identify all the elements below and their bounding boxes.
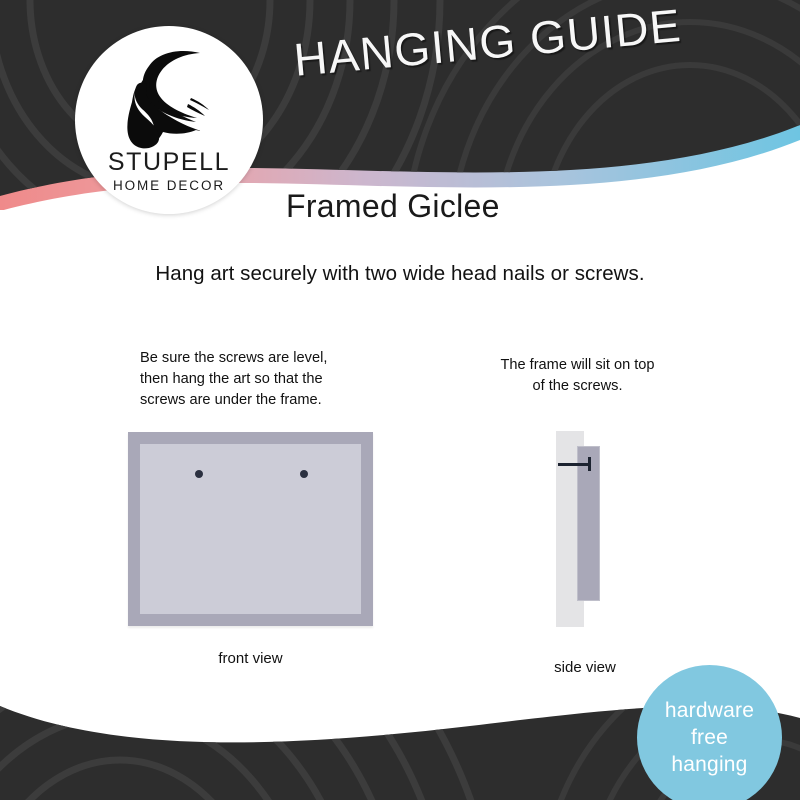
badge-line-3: hanging — [671, 751, 747, 778]
badge-line-1: hardware — [665, 697, 754, 724]
stupell-swoosh-logo-icon — [114, 44, 224, 149]
front-caption-line-1: Be sure the screws are level, — [140, 348, 380, 369]
side-caption-line-2: of the screws. — [470, 376, 685, 397]
side-caption-line-1: The frame will sit on top — [470, 355, 685, 376]
front-caption-line-3: screws are under the frame. — [140, 390, 380, 411]
brand-name: STUPELL — [75, 148, 263, 177]
hanging-guide-page: HANGING GUIDE STUPELL HOME DECOR Framed … — [0, 0, 800, 800]
nail-head-icon — [588, 457, 591, 471]
front-caption-line-2: then hang the art so that the — [140, 369, 380, 390]
nail-shaft-icon — [558, 463, 590, 466]
main-instruction-text: Hang art securely with two wide head nai… — [0, 262, 800, 286]
product-name: Framed Giclee — [286, 188, 500, 225]
front-view-caption: Be sure the screws are level, then hang … — [140, 348, 380, 411]
brand-tagline: HOME DECOR — [75, 178, 263, 193]
front-view-diagram — [128, 432, 373, 626]
side-view-caption: The frame will sit on top of the screws. — [470, 355, 685, 397]
brand-logo-badge: STUPELL HOME DECOR — [75, 26, 263, 214]
front-view-art-panel — [140, 444, 361, 614]
screw-dot-left — [195, 470, 203, 478]
hardware-free-badge: hardware free hanging — [637, 665, 782, 800]
screw-dot-right — [300, 470, 308, 478]
badge-line-2: free — [691, 724, 728, 751]
